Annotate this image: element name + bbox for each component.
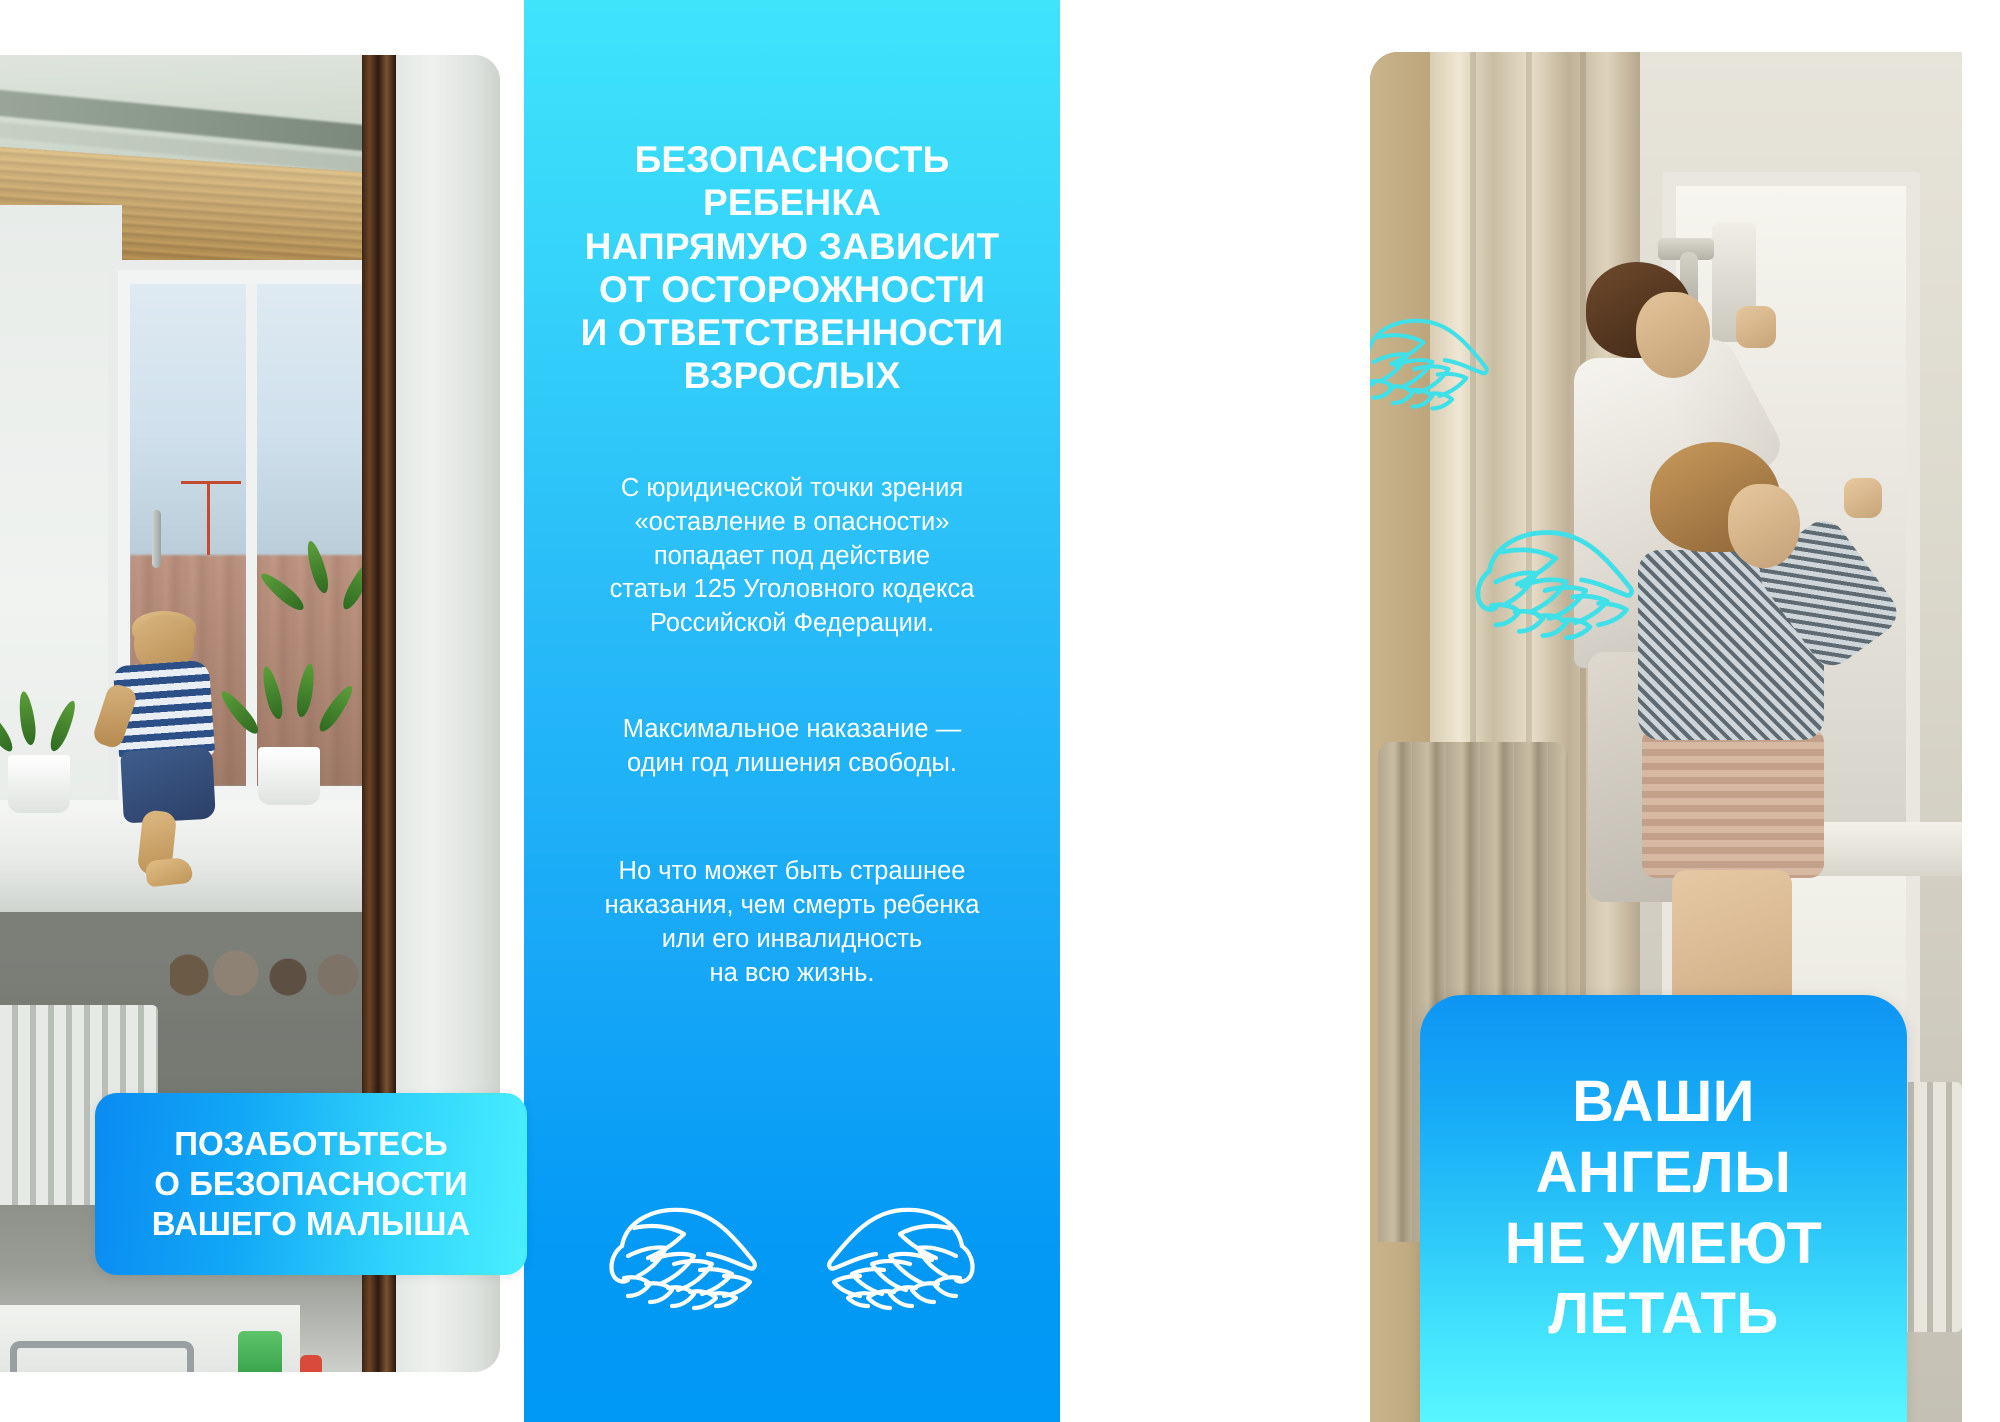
drawn-wing-lower-icon	[1470, 522, 1650, 642]
child-back-face	[1636, 292, 1710, 378]
plant-left	[0, 691, 90, 771]
headline-line-5: ВЗРОСЛЫХ	[557, 354, 1027, 397]
legal-note-line-2: «оставление в опасности»	[557, 506, 1027, 540]
rhetorical-note-line-2: наказания, чем смерть ребенка	[557, 889, 1027, 923]
center-gradient-panel: БЕЗОПАСНОСТЬ РЕБЕНКА НАПРЯМУЮ ЗАВИСИТ ОТ…	[524, 0, 1060, 1422]
headline: БЕЗОПАСНОСТЬ РЕБЕНКА НАПРЯМУЮ ЗАВИСИТ ОТ…	[557, 138, 1027, 398]
right-callout-line-2: АНГЕЛЫ	[1505, 1138, 1823, 1209]
window-handle	[152, 510, 161, 568]
toy-green	[238, 1331, 282, 1372]
headline-line-2: НАПРЯМУЮ ЗАВИСИТ	[557, 225, 1027, 268]
angel-wing-right-icon	[812, 1200, 980, 1312]
plant-pot-right	[258, 747, 320, 805]
punishment-note-line-1: Максимальное наказание —	[557, 713, 1027, 747]
paragraph-rhetorical-note: Но что может быть страшнее наказания, че…	[557, 855, 1027, 991]
left-callout-line-2: О БЕЗОПАСНОСТИ	[152, 1164, 470, 1204]
drawn-wing-upper-icon	[1370, 307, 1502, 417]
child-figure	[96, 615, 226, 875]
right-callout-badge: ВАШИ АНГЕЛЫ НЕ УМЕЮТ ЛЕТАТЬ	[1420, 995, 1907, 1422]
toy-red	[300, 1355, 322, 1372]
construction-crane	[207, 481, 210, 555]
poster-root: БЕЗОПАСНОСТЬ РЕБЕНКА НАПРЯМУЮ ЗАВИСИТ ОТ…	[0, 0, 2000, 1422]
chair-back	[10, 1341, 194, 1372]
child-front-hand	[1844, 478, 1882, 518]
paragraph-punishment-note: Максимальное наказание — один год лишени…	[557, 713, 1027, 781]
right-callout-line-4: ЛЕТАТЬ	[1505, 1279, 1823, 1350]
angel-wing-left-icon	[604, 1200, 772, 1312]
legal-note-line-4: статьи 125 Уголовного кодекса	[557, 573, 1027, 607]
rhetorical-note-line-4: на всю жизнь.	[557, 957, 1027, 991]
hanging-plant	[278, 525, 374, 655]
child-foot	[145, 857, 193, 888]
legal-note-line-3: попадает под действие	[557, 540, 1027, 574]
plant-right	[240, 655, 350, 755]
child-front-figure	[1620, 442, 1860, 1062]
left-callout-line-3: ВАШЕГО МАЛЫША	[152, 1204, 470, 1244]
rhetorical-note-line-3: или его инвалидность	[557, 923, 1027, 957]
headline-line-4: И ОТВЕТСТВЕННОСТИ	[557, 311, 1027, 354]
legal-note-line-5: Российской Федерации.	[557, 607, 1027, 641]
headline-line-3: ОТ ОСТОРОЖНОСТИ	[557, 268, 1027, 311]
right-callout-line-1: ВАШИ	[1505, 1067, 1823, 1138]
paragraph-legal-note: С юридической точки зрения «оставление в…	[557, 472, 1027, 642]
child-back-hand	[1736, 306, 1776, 348]
legal-note-line-1: С юридической точки зрения	[557, 472, 1027, 506]
child-front-face	[1728, 484, 1800, 568]
wings-decoration-row	[524, 1200, 1060, 1312]
child-front-shorts	[1642, 728, 1824, 878]
headline-line-1: БЕЗОПАСНОСТЬ РЕБЕНКА	[557, 138, 1027, 225]
rhetorical-note-line-1: Но что может быть страшнее	[557, 855, 1027, 889]
left-callout-line-1: ПОЗАБОТЬТЕСЬ	[152, 1124, 470, 1164]
left-callout-text: ПОЗАБОТЬТЕСЬ О БЕЗОПАСНОСТИ ВАШЕГО МАЛЫШ…	[152, 1124, 470, 1245]
left-callout-badge: ПОЗАБОТЬТЕСЬ О БЕЗОПАСНОСТИ ВАШЕГО МАЛЫШ…	[95, 1093, 527, 1275]
right-callout-line-3: НЕ УМЕЮТ	[1505, 1209, 1823, 1280]
right-callout-text: ВАШИ АНГЕЛЫ НЕ УМЕЮТ ЛЕТАТЬ	[1505, 1067, 1823, 1350]
punishment-note-line-2: один год лишения свободы.	[557, 747, 1027, 781]
shelf-jars	[170, 935, 390, 1005]
